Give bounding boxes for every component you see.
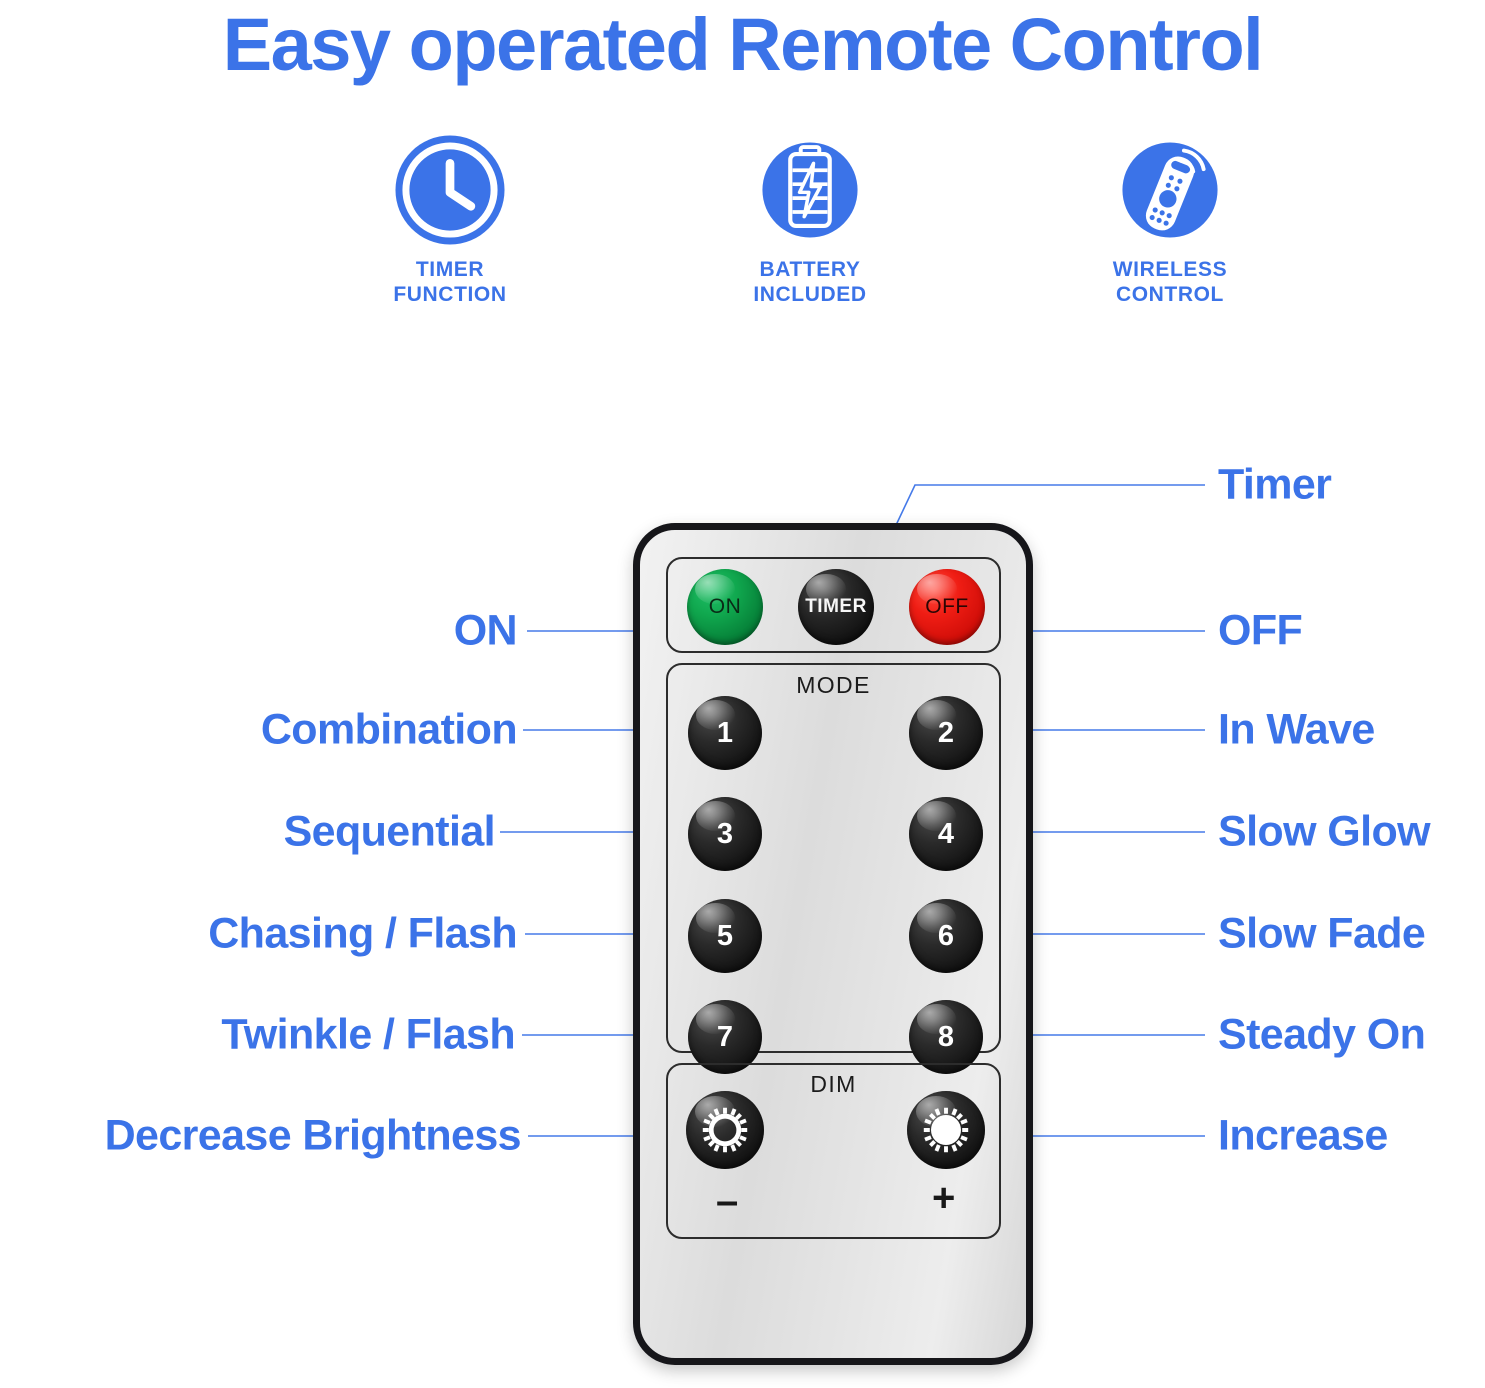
feature-badge-row: TIMER FUNCTION BATTERY INCLUDED [300,132,1320,307]
remote-control-body: ON TIMER OFF MODE 1 2 3 4 5 6 7 8 DIM [633,523,1033,1365]
on-button[interactable]: ON [687,569,763,645]
feature-label: WIRELESS CONTROL [1113,257,1227,307]
feature-label-line2: FUNCTION [393,283,506,306]
callout-increase: Increase [1218,1115,1388,1158]
mode-button-6[interactable]: 6 [909,899,983,973]
increase-brightness-button[interactable] [907,1091,985,1169]
on-button-label: ON [709,595,742,619]
mode-button-label: 1 [717,717,733,750]
feature-label-line1: BATTERY [759,258,860,281]
callout-slow-fade: Slow Fade [1218,913,1425,956]
sun-outline-icon [695,1100,755,1160]
feature-label: BATTERY INCLUDED [753,257,866,307]
mode-panel: MODE 1 2 3 4 5 6 7 8 [666,663,1001,1053]
feature-label: TIMER FUNCTION [393,257,506,307]
mode-button-label: 2 [938,717,954,750]
increase-sign: + [932,1178,955,1218]
mode-button-label: 5 [717,920,733,953]
feature-label-line1: TIMER [416,258,484,281]
decrease-brightness-button[interactable] [686,1091,764,1169]
remote-icon [1112,132,1228,248]
callout-steady-on: Steady On [1218,1014,1425,1057]
off-button-label: OFF [925,595,969,619]
timer-button[interactable]: TIMER [798,569,874,645]
timer-button-label: TIMER [805,596,867,618]
callout-sequential: Sequential [284,811,495,854]
feature-label-line2: CONTROL [1116,283,1224,306]
off-button[interactable]: OFF [909,569,985,645]
sun-filled-icon [916,1100,976,1160]
mode-button-label: 4 [938,818,954,851]
callout-timer: Timer [1218,464,1331,507]
dim-panel: DIM [666,1063,1001,1239]
callout-combination: Combination [261,709,517,752]
decrease-sign: – [716,1181,738,1221]
power-panel: ON TIMER OFF [666,557,1001,653]
callout-twinkle-flash: Twinkle / Flash [221,1014,515,1057]
callout-off: OFF [1218,610,1302,653]
mode-button-label: 6 [938,920,954,953]
mode-button-label: 7 [717,1021,733,1054]
feature-wireless-control: WIRELESS CONTROL [1020,132,1320,307]
clock-icon [392,132,508,248]
feature-battery-included: BATTERY INCLUDED [660,132,960,307]
mode-button-label: 3 [717,818,733,851]
callout-in-wave: In Wave [1218,709,1375,752]
feature-label-line1: WIRELESS [1113,258,1227,281]
feature-timer-function: TIMER FUNCTION [300,132,600,307]
callout-chasing-flash: Chasing / Flash [208,913,517,956]
mode-button-4[interactable]: 4 [909,797,983,871]
callout-decrease-brightness: Decrease Brightness [105,1115,521,1158]
page-title: Easy operated Remote Control [0,2,1485,88]
callout-slow-glow: Slow Glow [1218,811,1430,854]
mode-button-2[interactable]: 2 [909,696,983,770]
mode-button-1[interactable]: 1 [688,696,762,770]
battery-icon [752,132,868,248]
mode-button-3[interactable]: 3 [688,797,762,871]
callout-on: ON [454,610,517,653]
mode-button-label: 8 [938,1021,954,1054]
feature-label-line2: INCLUDED [753,283,866,306]
mode-panel-title: MODE [668,672,999,699]
mode-button-5[interactable]: 5 [688,899,762,973]
